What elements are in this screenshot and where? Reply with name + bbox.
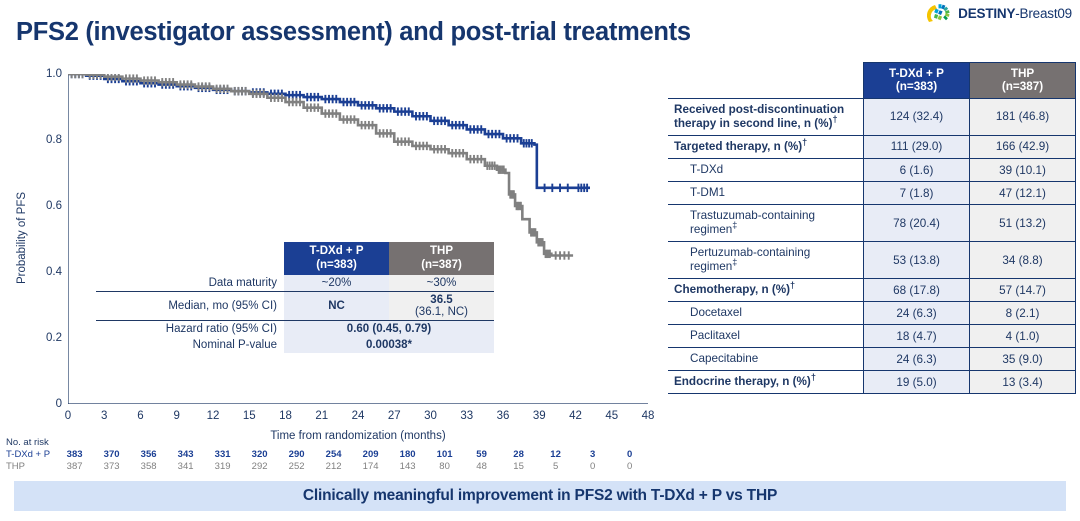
y-axis-title: Probability of PFS (16, 168, 28, 308)
risk-value: 341 (167, 461, 204, 473)
logo-label: DESTINY-Breast09 (958, 6, 1072, 21)
value-arm1: 111 (29.0) (864, 135, 970, 158)
risk-value: 80 (426, 461, 463, 473)
risk-value: 0 (574, 461, 611, 473)
value-arm1: 53 (13.8) (864, 242, 970, 279)
logo-study-suffix: -Breast09 (1015, 6, 1072, 21)
x-tick-label: 33 (460, 410, 473, 422)
post-trial-table-body: Received post-discontinuation therapy in… (668, 98, 1076, 393)
risk-value: 252 (278, 461, 315, 473)
x-tick-label: 0 (65, 410, 71, 422)
x-tick-label: 39 (533, 410, 546, 422)
x-tick-label: 18 (279, 410, 292, 422)
km-plot-area (68, 74, 648, 404)
risk-value: 290 (278, 449, 315, 461)
treatment-label: Pertuzumab-containing regimen‡ (668, 242, 864, 279)
x-tick-label: 45 (605, 410, 618, 422)
value-arm1: 7 (1.8) (864, 182, 970, 205)
inset-value-data-maturity-arm1: ~20% (284, 275, 389, 292)
number-at-risk-heading: No. at risk (6, 437, 648, 448)
y-tick-label: 0 (56, 398, 62, 410)
footnote-marker: † (802, 137, 807, 147)
x-tick-label: 21 (315, 410, 328, 422)
inset-label-hazard-ratio: Hazard ratio (95% CI) (96, 321, 284, 338)
value-arm1: 19 (5.0) (864, 371, 970, 394)
number-at-risk-table: No. at risk T-DXd + P3833703563433313202… (6, 437, 648, 472)
risk-value: 320 (241, 449, 278, 461)
x-tick-label: 12 (207, 410, 220, 422)
risk-value: 174 (352, 461, 389, 473)
x-tick-label: 6 (137, 410, 143, 422)
post-trial-col1-header: T-DXd + P (n=383) (864, 63, 970, 99)
risk-value: 383 (56, 449, 93, 461)
inset-label-pvalue: Nominal P-value (96, 337, 284, 353)
km-curve-arm1 (68, 74, 590, 188)
y-axis-ticks: 00.20.40.60.81.0 (28, 74, 62, 404)
post-trial-table-head: T-DXd + P (n=383) THP (n=387) (668, 63, 1076, 99)
inset-label-median: Median, mo (95% CI) (96, 292, 284, 321)
post-trial-col1-n: (n=383) (870, 80, 963, 93)
risk-value: 343 (167, 449, 204, 461)
value-arm2: 13 (3.4) (970, 371, 1076, 394)
risk-value: 292 (241, 461, 278, 473)
treatment-label: Docetaxel (668, 302, 864, 325)
value-arm2: 51 (13.2) (970, 205, 1076, 242)
risk-value: 5 (537, 461, 574, 473)
inset-row-data-maturity: Data maturity ~20% ~30% (96, 275, 494, 292)
risk-value: 331 (204, 449, 241, 461)
treatment-label: Received post-discontinuation therapy in… (668, 98, 864, 135)
risk-value: 319 (204, 461, 241, 473)
risk-value: 59 (463, 449, 500, 461)
x-tick-label: 42 (569, 410, 582, 422)
table-row: Capecitabine24 (6.3)35 (9.0) (668, 348, 1076, 371)
post-trial-header-row: T-DXd + P (n=383) THP (n=387) (668, 63, 1076, 99)
inset-header-spacer (96, 242, 284, 275)
x-tick-label: 27 (388, 410, 401, 422)
inset-row-pvalue: Nominal P-value 0.00038* (96, 337, 494, 353)
value-arm2: 39 (10.1) (970, 159, 1076, 182)
km-plot-svg (68, 74, 648, 404)
y-tick-label: 0.8 (46, 134, 62, 146)
treatment-label: T-DM1 (668, 182, 864, 205)
risk-value: 356 (130, 449, 167, 461)
inset-value-pvalue: 0.00038* (284, 337, 494, 353)
treatment-label: Endocrine therapy, n (%)† (668, 371, 864, 394)
y-tick-label: 0.2 (46, 332, 62, 344)
number-at-risk-grid: T-DXd + P3833703563433313202902542091801… (6, 449, 648, 472)
inset-col2-name: THP (393, 245, 490, 259)
footnote-marker: † (832, 114, 837, 124)
inset-value-median-arm2: 36.5 (36.1, NC) (389, 292, 494, 321)
value-arm1: 68 (17.8) (864, 279, 970, 302)
km-curve-arm2 (68, 74, 573, 256)
risk-value: 28 (500, 449, 537, 461)
post-trial-col2-name: THP (976, 67, 1069, 80)
x-tick-label: 24 (352, 410, 365, 422)
km-curve-chart: Probability of PFS 00.20.40.60.81.0 0369… (0, 62, 668, 477)
value-arm2: 34 (8.8) (970, 242, 1076, 279)
y-tick-label: 1.0 (46, 68, 62, 80)
risk-value: 48 (463, 461, 500, 473)
risk-value: 209 (352, 449, 389, 461)
table-row: Pertuzumab-containing regimen‡53 (13.8)3… (668, 242, 1076, 279)
table-row: Trastuzumab-containing regimen‡78 (20.4)… (668, 205, 1076, 242)
risk-value: 15 (500, 461, 537, 473)
inset-col2-n: (n=387) (393, 259, 490, 273)
page-title: PFS2 (investigator assessment) and post-… (16, 18, 691, 47)
x-axis-ticks: 036912151821242730333639424548 (68, 410, 648, 428)
value-arm1: 78 (20.4) (864, 205, 970, 242)
censor-marks-arm2 (72, 74, 569, 260)
table-row: Chemotherapy, n (%)†68 (17.8)57 (14.7) (668, 279, 1076, 302)
post-trial-col2-header: THP (n=387) (970, 63, 1076, 99)
inset-header-row: T-DXd + P (n=383) THP (n=387) (96, 242, 494, 275)
risk-value: 143 (389, 461, 426, 473)
inset-value-median-arm1: NC (284, 292, 389, 321)
risk-row-label: T-DXd + P (6, 449, 56, 461)
treatment-label: Trastuzumab-containing regimen‡ (668, 205, 864, 242)
x-tick-label: 3 (101, 410, 107, 422)
risk-row: T-DXd + P3833703563433313202902542091801… (6, 449, 648, 461)
risk-value: 180 (389, 449, 426, 461)
inset-value-median-arm2-ci: (36.1, NC) (393, 306, 490, 318)
inset-value-data-maturity-arm2: ~30% (389, 275, 494, 292)
value-arm2: 57 (14.7) (970, 279, 1076, 302)
value-arm2: 47 (12.1) (970, 182, 1076, 205)
table-row: Targeted therapy, n (%)†111 (29.0)166 (4… (668, 135, 1076, 158)
treatment-label: Paclitaxel (668, 325, 864, 348)
destiny-burst-icon (927, 2, 953, 24)
inset-row-median: Median, mo (95% CI) NC 36.5 (36.1, NC) (96, 292, 494, 321)
logo-study-prefix: DESTINY (958, 6, 1015, 21)
footnote-marker: ‡ (732, 257, 737, 267)
inset-label-data-maturity: Data maturity (96, 275, 284, 292)
treatment-label: T-DXd (668, 159, 864, 182)
x-tick-label: 9 (174, 410, 180, 422)
table-row: T-DM17 (1.8)47 (12.1) (668, 182, 1076, 205)
risk-value: 370 (93, 449, 130, 461)
y-tick-label: 0.4 (46, 266, 62, 278)
x-tick-label: 36 (497, 410, 510, 422)
inset-value-hazard-ratio: 0.60 (0.45, 0.79) (284, 321, 494, 338)
inset-col1-header: T-DXd + P (n=383) (284, 242, 389, 275)
study-logo: DESTINY-Breast09 (927, 2, 1072, 24)
x-tick-label: 15 (243, 410, 256, 422)
inset-stats-table: T-DXd + P (n=383) THP (n=387) Data matur… (96, 242, 494, 353)
value-arm1: 24 (6.3) (864, 348, 970, 371)
footnote-marker: † (790, 280, 795, 290)
risk-value: 101 (426, 449, 463, 461)
risk-value: 254 (315, 449, 352, 461)
risk-value: 0 (611, 461, 648, 473)
takeaway-banner: Clinically meaningful improvement in PFS… (14, 481, 1066, 511)
inset-col2-header: THP (n=387) (389, 242, 494, 275)
x-tick-label: 30 (424, 410, 437, 422)
table-row: Paclitaxel18 (4.7)4 (1.0) (668, 325, 1076, 348)
value-arm1: 6 (1.6) (864, 159, 970, 182)
y-tick-label: 0.6 (46, 200, 62, 212)
value-arm1: 124 (32.4) (864, 98, 970, 135)
footnote-marker: ‡ (732, 220, 737, 230)
value-arm2: 181 (46.8) (970, 98, 1076, 135)
treatment-label: Targeted therapy, n (%)† (668, 135, 864, 158)
table-row: T-DXd6 (1.6)39 (10.1) (668, 159, 1076, 182)
risk-value: 387 (56, 461, 93, 473)
inset-value-median-arm2-point: 36.5 (393, 294, 490, 306)
inset-row-hazard-ratio: Hazard ratio (95% CI) 0.60 (0.45, 0.79) (96, 321, 494, 338)
inset-col1-name: T-DXd + P (288, 245, 385, 259)
risk-value: 3 (574, 449, 611, 461)
footnote-marker: † (811, 372, 816, 382)
risk-value: 373 (93, 461, 130, 473)
risk-value: 358 (130, 461, 167, 473)
value-arm2: 35 (9.0) (970, 348, 1076, 371)
value-arm1: 18 (4.7) (864, 325, 970, 348)
risk-value: 212 (315, 461, 352, 473)
post-trial-col2-n: (n=387) (976, 80, 1069, 93)
risk-row-label: THP (6, 461, 56, 473)
table-row: Received post-discontinuation therapy in… (668, 98, 1076, 135)
value-arm1: 24 (6.3) (864, 302, 970, 325)
table-row: Endocrine therapy, n (%)†19 (5.0)13 (3.4… (668, 371, 1076, 394)
table-row: Docetaxel24 (6.3)8 (2.1) (668, 302, 1076, 325)
value-arm2: 4 (1.0) (970, 325, 1076, 348)
post-trial-col1-name: T-DXd + P (870, 67, 963, 80)
risk-value: 12 (537, 449, 574, 461)
risk-row: THP3873733583413192922522121741438048155… (6, 461, 648, 473)
takeaway-banner-text: Clinically meaningful improvement in PFS… (303, 487, 777, 505)
x-tick-label: 48 (642, 410, 655, 422)
inset-col1-n: (n=383) (288, 259, 385, 273)
post-trial-header-spacer (668, 63, 864, 99)
treatment-label: Capecitabine (668, 348, 864, 371)
risk-value: 0 (611, 449, 648, 461)
slide-canvas: DESTINY-Breast09 PFS2 (investigator asse… (0, 0, 1080, 521)
treatment-label: Chemotherapy, n (%)† (668, 279, 864, 302)
value-arm2: 8 (2.1) (970, 302, 1076, 325)
value-arm2: 166 (42.9) (970, 135, 1076, 158)
post-trial-treatments-table: T-DXd + P (n=383) THP (n=387) Received p… (668, 62, 1076, 394)
